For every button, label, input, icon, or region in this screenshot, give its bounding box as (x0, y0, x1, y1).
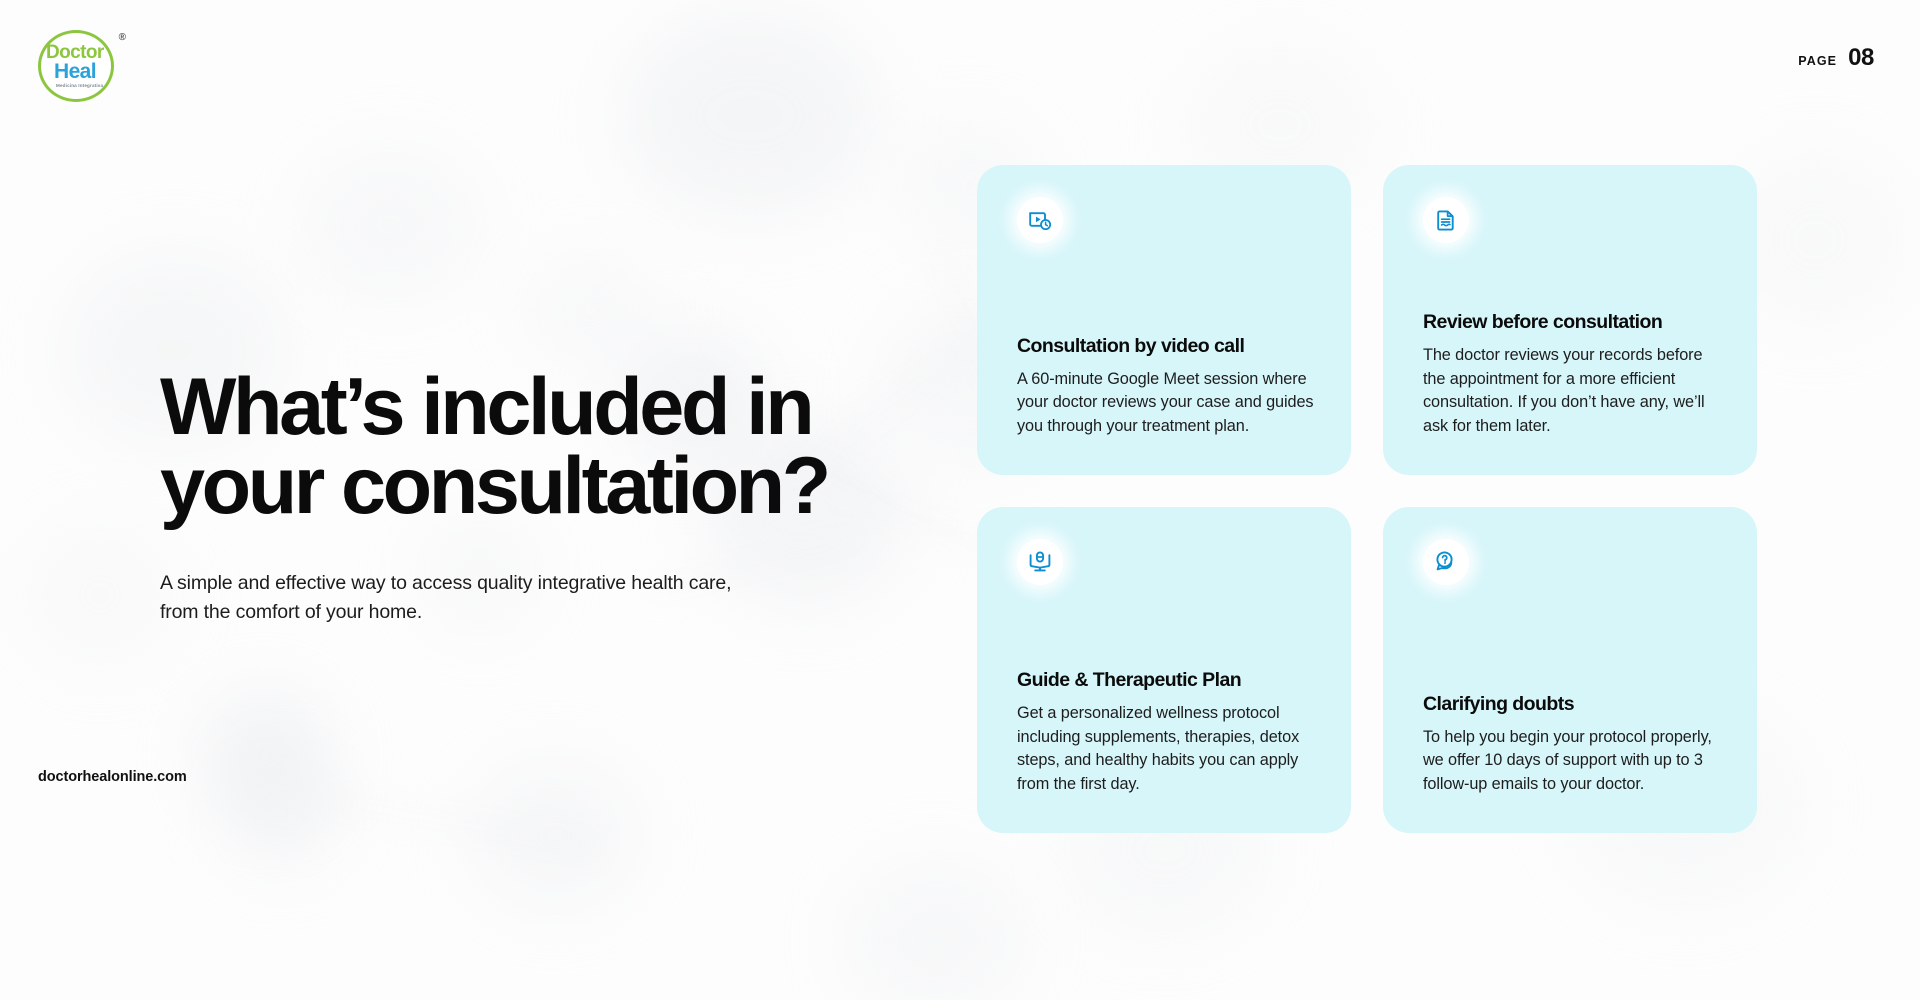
hero-block: What’s included in your consultation? A … (160, 368, 900, 628)
feature-card-record-review[interactable]: Review before consultation The doctor re… (1383, 165, 1757, 475)
site-url[interactable]: doctorhealonline.com (38, 769, 187, 785)
card-title: Clarifying doubts (1423, 693, 1723, 716)
registered-trademark-icon: ® (119, 32, 126, 43)
card-text: A 60-minute Google Meet session where yo… (1017, 368, 1317, 439)
card-text: To help you begin your protocol properly… (1423, 726, 1723, 797)
document-icon (1423, 197, 1469, 243)
card-text: Get a personalized wellness protocol inc… (1017, 702, 1317, 797)
page-label: PAGE (1798, 54, 1837, 68)
brand-logo[interactable]: Doctor Heal Medicina Integrativa ® (34, 26, 130, 106)
page-indicator: PAGE 08 (1798, 44, 1874, 72)
logo-tagline: Medicina Integrativa (56, 83, 103, 88)
card-title: Consultation by video call (1017, 335, 1317, 358)
video-clock-icon (1017, 197, 1063, 243)
hero-subtitle: A simple and effective way to access qua… (160, 569, 820, 628)
feature-card-grid: Consultation by video call A 60-minute G… (977, 165, 1757, 833)
open-book-capsule-icon (1017, 539, 1063, 585)
card-title: Review before consultation (1423, 311, 1723, 334)
feature-card-therapeutic-plan[interactable]: Guide & Therapeutic Plan Get a personali… (977, 507, 1351, 833)
page-number: 08 (1848, 44, 1874, 72)
page-title: What’s included in your consultation? (160, 368, 900, 525)
card-text: The doctor reviews your records before t… (1423, 344, 1723, 439)
logo-word-doctor: Doctor (46, 44, 104, 62)
slide: Doctor Heal Medicina Integrativa ® PAGE … (0, 0, 1920, 1000)
question-chat-icon (1423, 539, 1469, 585)
feature-card-clarifying-doubts[interactable]: Clarifying doubts To help you begin your… (1383, 507, 1757, 833)
feature-card-video-consultation[interactable]: Consultation by video call A 60-minute G… (977, 165, 1351, 475)
logo-word-heal: Heal (54, 62, 96, 82)
card-title: Guide & Therapeutic Plan (1017, 669, 1317, 692)
